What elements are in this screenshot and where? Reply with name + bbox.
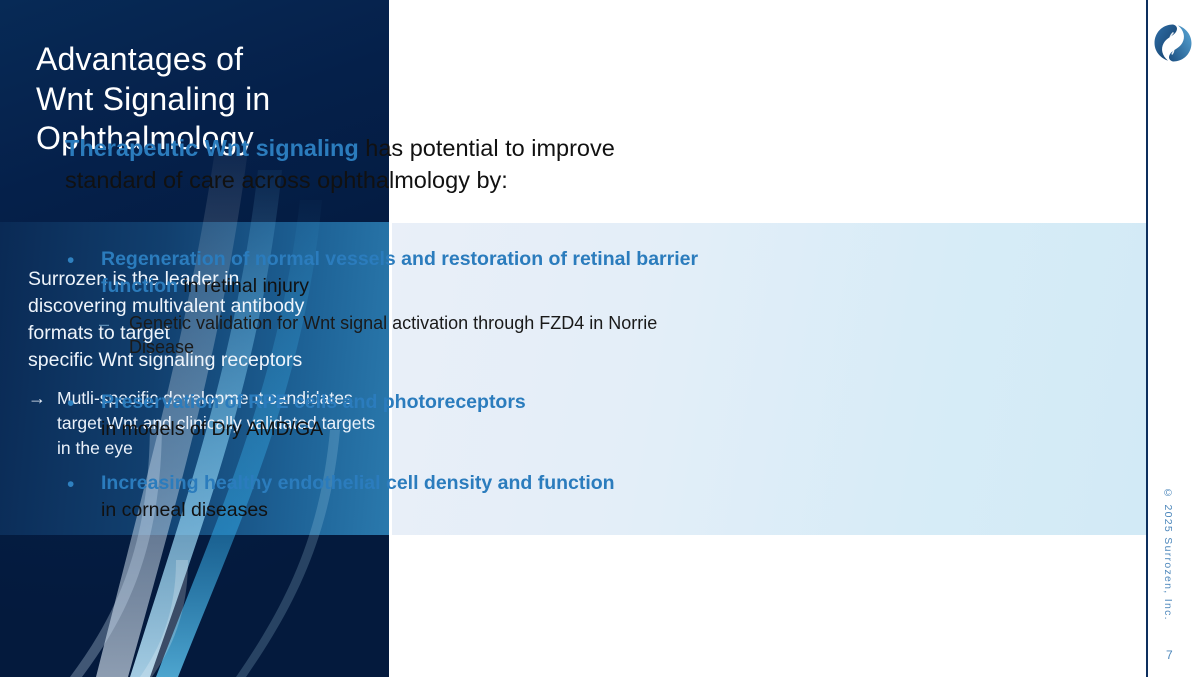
lede-paragraph: Therapeutic Wnt signaling has potential … — [65, 133, 685, 196]
bullet-text: Increasing healthy endothelial cell dens… — [101, 470, 615, 523]
copyright-text: © 2025 Surrozen, Inc. — [1162, 487, 1174, 621]
spacer — [65, 442, 705, 470]
bullet-dot-icon: • — [65, 389, 101, 442]
vertical-divider — [1146, 0, 1148, 677]
bullet-dot-icon: • — [65, 470, 101, 523]
bullet-rest: in models of Dry AMD/GA — [101, 418, 323, 440]
bullet-highlight: Preservation of RPE cells and photorecep… — [101, 391, 526, 413]
spacer — [65, 359, 705, 389]
sub-bullet-text: Genetic validation for Wnt signal activa… — [129, 311, 705, 359]
list-item: • Increasing healthy endothelial cell de… — [65, 470, 705, 523]
dash-icon: – — [99, 311, 129, 359]
bullet-text: Regeneration of normal vessels and resto… — [101, 246, 705, 299]
sub-list-item: – Genetic validation for Wnt signal acti… — [65, 311, 705, 359]
surrozen-logo-icon — [1152, 22, 1194, 64]
bullet-rest: in corneal diseases — [101, 499, 268, 521]
bullet-dot-icon: • — [65, 246, 101, 299]
slide: Advantages of Wnt Signaling in Ophthalmo… — [0, 0, 1200, 677]
lede-highlight: Therapeutic Wnt signaling — [65, 135, 359, 161]
list-item: • Regeneration of normal vessels and res… — [65, 246, 705, 299]
page-number: 7 — [1166, 648, 1173, 662]
bullet-rest: in retinal injury — [178, 275, 309, 297]
bullet-highlight: Increasing healthy endothelial cell dens… — [101, 472, 615, 494]
arrow-right-icon: → — [28, 386, 46, 461]
bullet-text: Preservation of RPE cells and photorecep… — [101, 389, 526, 442]
bullet-list: • Regeneration of normal vessels and res… — [65, 246, 705, 523]
list-item: • Preservation of RPE cells and photorec… — [65, 389, 705, 442]
